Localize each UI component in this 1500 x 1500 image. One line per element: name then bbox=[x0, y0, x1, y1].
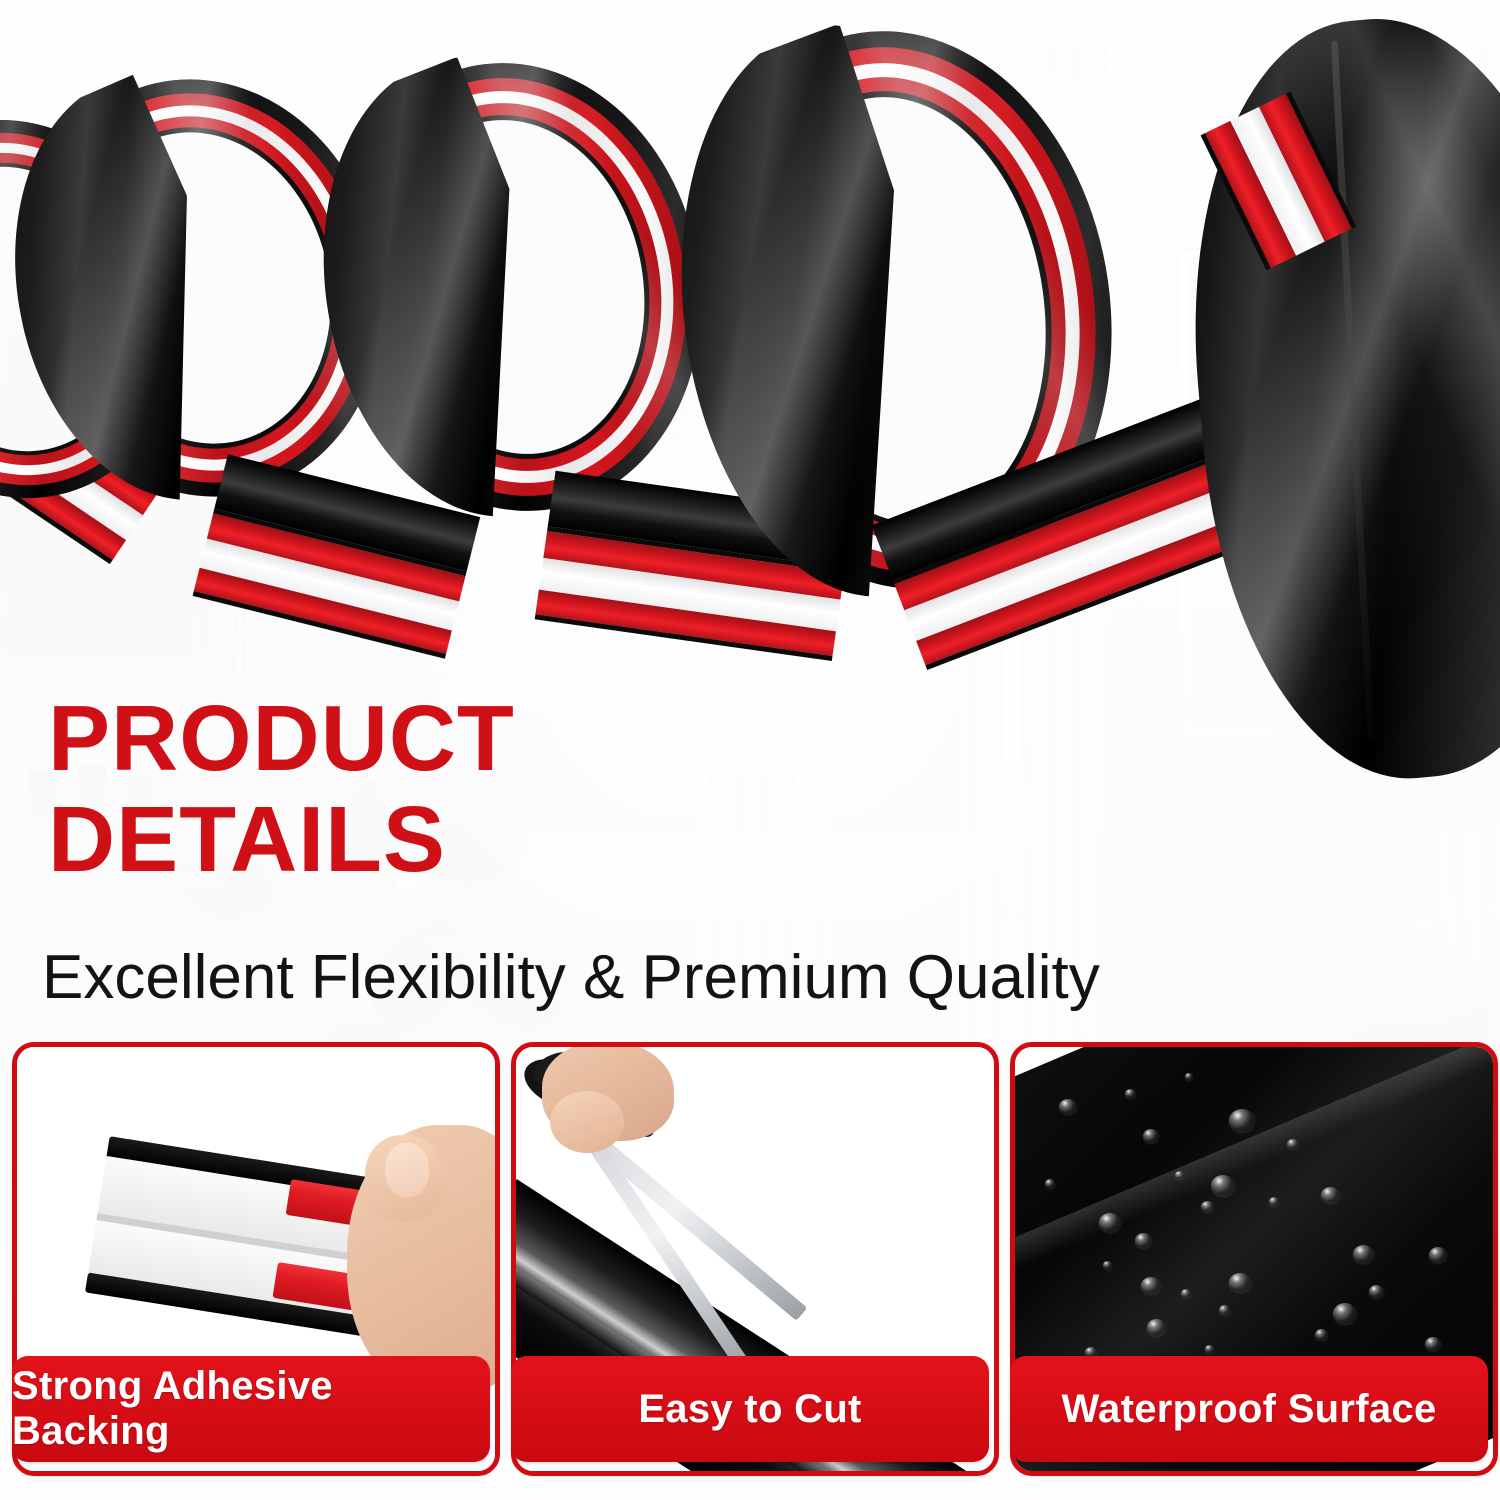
tape-coil-loop bbox=[1168, 2, 1500, 790]
finger bbox=[550, 1091, 624, 1153]
water-droplet bbox=[1125, 1089, 1136, 1098]
feature-caption-strong-adhesive-backing[interactable]: Strong Adhesive Backing bbox=[12, 1356, 490, 1462]
hero-coiled-tape-image bbox=[0, 0, 1500, 790]
water-droplet bbox=[1229, 1273, 1251, 1292]
water-droplet bbox=[1185, 1073, 1193, 1080]
water-droplet bbox=[1099, 1213, 1121, 1232]
water-droplet bbox=[1369, 1285, 1384, 1298]
water-droplet bbox=[1103, 1261, 1112, 1269]
product-detail-infographic: PRODUCT DETAILS Excellent Flexibility & … bbox=[0, 0, 1500, 1500]
water-droplet bbox=[1219, 1305, 1230, 1315]
water-droplet bbox=[1045, 1179, 1055, 1188]
feature-caption-label: Waterproof Surface bbox=[1061, 1387, 1436, 1432]
water-droplet bbox=[1059, 1099, 1077, 1114]
water-droplet bbox=[1425, 1337, 1441, 1351]
headline-block: PRODUCT DETAILS bbox=[48, 694, 948, 885]
water-droplet bbox=[1315, 1329, 1328, 1340]
water-droplet bbox=[1321, 1187, 1340, 1203]
water-droplet bbox=[1175, 1171, 1184, 1179]
feature-caption-easy-to-cut[interactable]: Easy to Cut bbox=[511, 1356, 989, 1462]
water-droplet bbox=[1211, 1175, 1235, 1196]
water-droplet bbox=[1135, 1233, 1152, 1248]
water-droplet bbox=[1143, 1129, 1159, 1143]
subheadline: Excellent Flexibility & Premium Quality bbox=[42, 942, 1100, 1013]
headline-line-2: DETAILS bbox=[48, 795, 948, 884]
feature-caption-waterproof-surface[interactable]: Waterproof Surface bbox=[1010, 1356, 1488, 1462]
water-droplet bbox=[1147, 1319, 1166, 1336]
water-droplet bbox=[1181, 1289, 1191, 1298]
feature-captions: Strong Adhesive Backing Easy to Cut Wate… bbox=[0, 1356, 1500, 1466]
feature-caption-label: Easy to Cut bbox=[638, 1387, 861, 1432]
water-droplet bbox=[1201, 1201, 1214, 1212]
feature-caption-label: Strong Adhesive Backing bbox=[12, 1364, 490, 1454]
water-droplet bbox=[1353, 1245, 1374, 1263]
water-droplet bbox=[1229, 1109, 1255, 1132]
thumbnail bbox=[385, 1143, 429, 1197]
headline-line-1: PRODUCT bbox=[48, 694, 948, 783]
water-droplet bbox=[1269, 1197, 1279, 1206]
water-droplet bbox=[1333, 1303, 1357, 1324]
water-droplet bbox=[1141, 1277, 1161, 1294]
water-droplet bbox=[1287, 1139, 1299, 1149]
water-droplet bbox=[1205, 1345, 1214, 1353]
water-droplet bbox=[1429, 1247, 1447, 1263]
